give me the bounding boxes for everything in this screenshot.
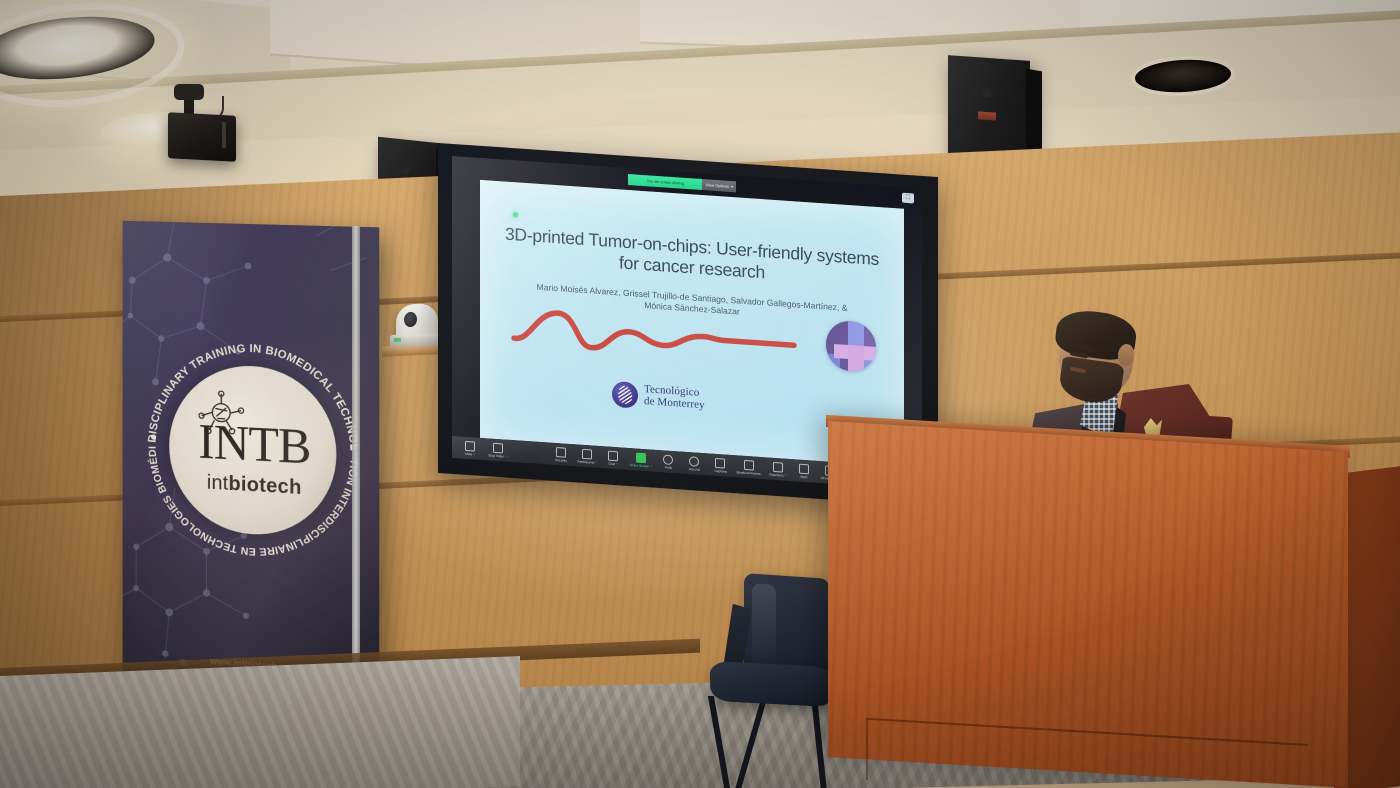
chevron-up-icon[interactable]: ^ bbox=[651, 464, 653, 468]
conference-room-scene: 3D-printed Tumor-on-chips: User-friendly… bbox=[0, 0, 1400, 788]
toolbar-button-label: Breakout Rooms bbox=[737, 470, 761, 475]
toolbar-button-breakout-rooms[interactable]: Breakout Rooms bbox=[734, 459, 763, 476]
toolbar-button-participants[interactable]: Participants^ bbox=[575, 448, 599, 465]
tec-emblem-icon bbox=[612, 381, 638, 409]
toolbar-button-captions[interactable]: Captions bbox=[708, 457, 732, 474]
toolbar-button-label: Stop Video bbox=[489, 453, 505, 458]
breakout-rooms-icon bbox=[744, 459, 754, 470]
toolbar-button-label: Polls bbox=[665, 465, 672, 469]
toolbar-button-label: Security bbox=[555, 458, 567, 463]
toolbar-button-share-screen[interactable]: Share Screen^ bbox=[627, 451, 654, 468]
tec-logo-line-2: de Monterrey bbox=[644, 396, 705, 412]
tecnologico-de-monterrey-logo: Tecnológico de Monterrey bbox=[612, 375, 772, 424]
chevron-up-icon[interactable]: ^ bbox=[596, 460, 598, 464]
toolbar-button-label: Captions bbox=[714, 468, 727, 473]
fullscreen-icon: ⛶ bbox=[906, 195, 910, 201]
toolbar-button-security[interactable]: Security bbox=[549, 446, 573, 463]
chevron-up-icon[interactable]: ^ bbox=[506, 454, 508, 458]
window-control-button[interactable]: ⛶ bbox=[902, 193, 914, 204]
toolbar-button-chat[interactable]: Chat^ bbox=[601, 450, 625, 467]
toolbar-button-label: Mute bbox=[465, 451, 472, 455]
screen-sharing-pill: You are screen sharing bbox=[628, 174, 702, 190]
toolbar-button-label: Record bbox=[689, 467, 699, 472]
organ-on-chip-logo-icon bbox=[826, 319, 876, 372]
toolbar-button-label: Participants bbox=[577, 459, 594, 464]
screen-sharing-label: You are screen sharing bbox=[647, 178, 684, 185]
projector-vent bbox=[222, 122, 226, 148]
carpet-floor-left bbox=[0, 656, 520, 788]
chat-bubble-icon bbox=[608, 450, 618, 461]
view-options-button[interactable]: View Options ▾ bbox=[702, 179, 736, 192]
toolbar-button-label: Share Screen bbox=[630, 463, 650, 468]
zoom-share-indicator: You are screen sharing View Options ▾ bbox=[628, 174, 736, 192]
camera-status-led bbox=[394, 338, 401, 342]
reactions-icon bbox=[773, 461, 783, 472]
view-options-label: View Options bbox=[705, 182, 729, 189]
speaker-driver-icon bbox=[402, 166, 411, 176]
record-icon bbox=[689, 456, 699, 467]
captions-icon bbox=[715, 457, 725, 468]
toolbar-button-reactions[interactable]: Reactions^ bbox=[766, 461, 790, 478]
toolbar-button-stop-video[interactable]: Stop Video^ bbox=[486, 442, 510, 459]
chevron-up-icon[interactable]: ^ bbox=[616, 462, 618, 466]
participants-icon bbox=[582, 448, 592, 459]
shield-icon bbox=[556, 447, 566, 458]
share-screen-icon bbox=[636, 452, 646, 463]
microphone-icon bbox=[465, 440, 475, 451]
video-camera-icon bbox=[493, 442, 503, 453]
toolbar-button-label: Chat bbox=[608, 461, 615, 465]
poll-icon bbox=[663, 454, 673, 465]
toolbar-button-polls[interactable]: Polls bbox=[656, 453, 680, 470]
chevron-up-icon[interactable]: ^ bbox=[474, 452, 476, 456]
toolbar-button-record[interactable]: Record bbox=[682, 455, 706, 472]
speaker-driver-icon bbox=[982, 88, 992, 99]
chair-highlight bbox=[752, 583, 776, 673]
chair-seat bbox=[709, 661, 834, 708]
toolbar-left-group: Mute^Stop Video^ bbox=[458, 440, 510, 459]
toolbar-button-apps[interactable]: Apps bbox=[792, 463, 816, 480]
screen-share-indicator-dot bbox=[513, 212, 518, 217]
speaker-badge bbox=[978, 111, 996, 120]
chevron-up-icon[interactable]: ^ bbox=[785, 473, 787, 477]
toolbar-button-label: Apps bbox=[800, 474, 807, 478]
toolbar-button-label: Reactions bbox=[769, 472, 783, 477]
slide-title: 3D-printed Tumor-on-chips: User-friendly… bbox=[504, 224, 880, 292]
apps-icon bbox=[799, 463, 809, 474]
toolbar-button-mute[interactable]: Mute^ bbox=[458, 440, 482, 457]
chevron-down-icon: ▾ bbox=[731, 184, 733, 189]
